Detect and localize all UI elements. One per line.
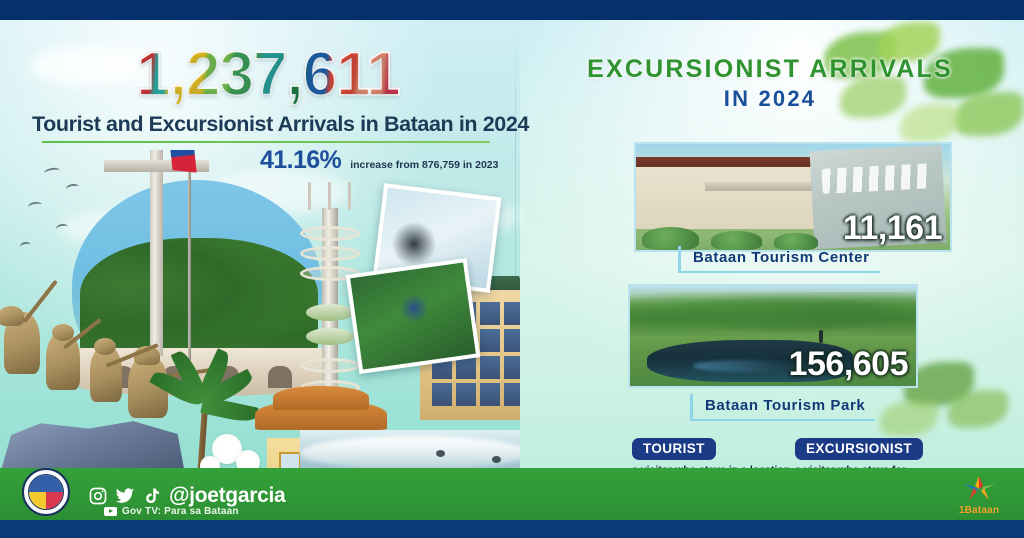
1bataan-logo: 1Bataan	[952, 468, 1006, 516]
social-handle[interactable]: @joetgarcia	[169, 484, 285, 508]
growth-stat: 41.16% increase from 876,759 in 2023	[260, 146, 498, 175]
tourism-center-caption: Bataan Tourism Center	[678, 246, 880, 273]
flower	[236, 450, 260, 468]
youtube-icon[interactable]	[104, 507, 117, 516]
definition-tourist-pill: TOURIST	[632, 438, 716, 460]
tourism-center-photo: 11,161	[634, 142, 952, 252]
govtv-row: Gov TV: Para sa Bataan	[104, 506, 239, 517]
headline-divider-rule	[42, 141, 490, 143]
1bataan-label: 1Bataan	[959, 505, 999, 516]
sea-foam	[300, 436, 520, 468]
headline-total-arrivals: 1,237,611	[128, 42, 408, 108]
definition-excursionist-pill: EXCURSIONIST	[795, 438, 923, 460]
bottom-border-bar	[0, 520, 1024, 538]
right-panel-title: EXCURSIONIST ARRIVALS	[560, 55, 980, 84]
tourism-park-caption: Bataan Tourism Park	[690, 394, 875, 421]
growth-percent: 41.16%	[260, 146, 341, 175]
top-border-bar	[0, 0, 1024, 20]
growth-note: increase from 876,759 in 2023	[350, 159, 498, 171]
stat-card-tourism-center[interactable]: 11,161	[634, 142, 952, 252]
infographic-poster: 1,237,611 Tourist and Excursionist Arriv…	[0, 0, 1024, 538]
tourism-center-value: 11,161	[843, 209, 942, 248]
1bataan-star-icon	[959, 474, 999, 504]
canopy-ride-photo-card	[346, 258, 481, 374]
tiktok-icon[interactable]	[142, 486, 162, 506]
photo-collage	[0, 150, 520, 468]
headline-subtitle: Tourist and Excursionist Arrivals in Bat…	[32, 112, 492, 137]
social-handle-row: @joetgarcia	[88, 484, 285, 508]
right-panel-subtitle: IN 2024	[560, 86, 980, 112]
stat-card-tourism-park[interactable]: 156,605	[628, 284, 918, 388]
tourism-park-value: 156,605	[789, 345, 908, 384]
twitter-icon[interactable]	[115, 486, 135, 506]
bataan-provincial-seal	[22, 468, 70, 516]
instagram-icon[interactable]	[88, 486, 108, 506]
tourism-park-photo: 156,605	[628, 284, 918, 388]
seal-emblem	[29, 475, 63, 509]
govtv-label: Gov TV: Para sa Bataan	[122, 506, 239, 517]
